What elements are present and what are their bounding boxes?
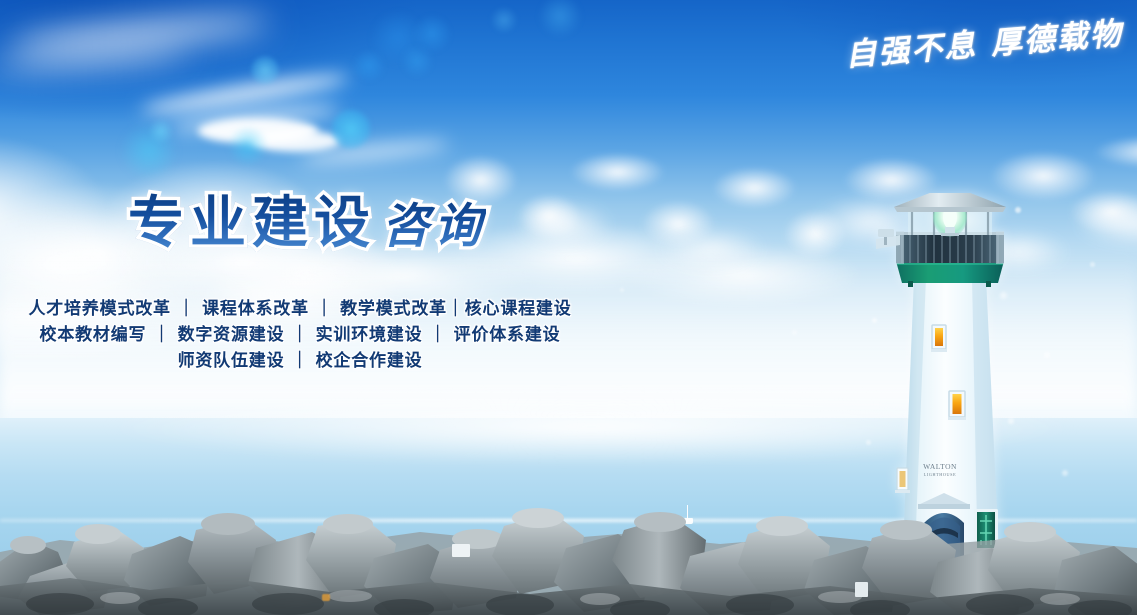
lighthouse-subtitle: LIGHTHOUSE (905, 473, 975, 477)
tagline-row-2: 校本教材编写 ｜ 数字资源建设 ｜ 实训环境建设 ｜ 评价体系建设 (0, 322, 600, 348)
cloud-puff-2 (250, 130, 340, 152)
promo-banner: WALTON LIGHTHOUSE (0, 0, 1137, 615)
tagline-list: 人才培养模式改革 ｜ 课程体系改革 ｜ 教学模式改革｜核心课程建设 校本教材编写… (0, 296, 600, 374)
calligraphy-part-2: 厚德载物 (990, 16, 1124, 62)
breakwater-rocks (0, 500, 1137, 615)
rock-marker-plate (855, 582, 868, 597)
lighthouse-roof (894, 193, 1006, 207)
calligraphy-gap (978, 54, 992, 55)
page-subtitle: 咨询 (382, 199, 486, 254)
tagline-row-1: 人才培养模式改革 ｜ 课程体系改革 ｜ 教学模式改革｜核心课程建设 (0, 296, 600, 322)
tagline-row-3: 师资队伍建设 ｜ 校企合作建设 (0, 348, 600, 374)
calligraphy-part-1: 自强不息 (844, 27, 978, 73)
page-title: 专业建设 (128, 191, 376, 256)
rock-marker-plate (452, 544, 470, 557)
lighthouse-name: WALTON (905, 463, 975, 471)
lighthouse-nameplate: WALTON LIGHTHOUSE (905, 463, 975, 477)
headline-sub-wrap: 咨询 咨询 (376, 203, 486, 250)
headline-main-wrap: 专业建设 专业建设 (128, 196, 376, 252)
headline-block: 专业建设 专业建设 咨询 咨询 (128, 196, 486, 252)
